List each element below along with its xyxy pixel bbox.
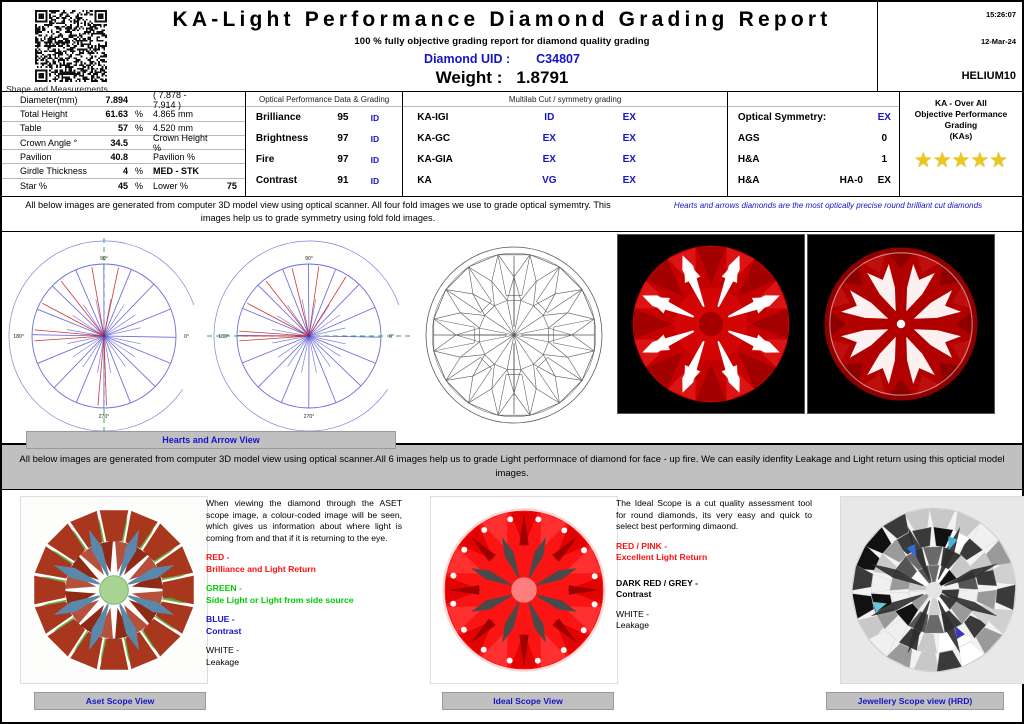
table-row: AGS 0	[728, 128, 899, 149]
measure-label: Table	[8, 123, 96, 133]
lab-cut-grade: EX	[509, 133, 589, 144]
fold-diagram-2-svg: 90°180°0°270°	[207, 232, 412, 437]
measure-value: 57	[96, 123, 128, 133]
hearts-arrows-note: Hearts and arrows diamonds are the most …	[634, 197, 1022, 231]
table-row: KA-GC EX EX	[403, 128, 727, 149]
ideal-scope-image-cell	[412, 490, 612, 714]
optical-performance-table: Optical Performance Data & Grading Brill…	[246, 92, 403, 196]
table-row: Total Height 61.63 % 4.865 mm	[2, 107, 245, 121]
measure-label: Girdle Thickness	[8, 166, 96, 176]
arrows-view	[617, 234, 805, 414]
aset-legend-key-white: WHITE -	[206, 645, 239, 655]
symmetry-mid: HA-0	[833, 175, 870, 186]
measure-unit: %	[128, 166, 147, 176]
svg-text:270°: 270°	[304, 414, 315, 420]
table-row: KA VG EX	[403, 170, 727, 191]
optical-performance-header: Optical Performance Data & Grading	[246, 92, 402, 107]
metric-grade: ID	[358, 134, 392, 144]
svg-text:0°: 0°	[389, 334, 394, 340]
table-row: Brightness 97 ID	[246, 128, 402, 149]
aset-scope-image-cell	[2, 490, 202, 714]
page-title: KA-Light Performance Diamond Grading Rep…	[132, 8, 872, 32]
weight-value: 1.8791	[516, 68, 568, 87]
overall-title-line2: Objective Performance Grading	[900, 109, 1022, 131]
star-icon: ★	[989, 150, 1008, 171]
page-subtitle: 100 % fully objective grading report for…	[132, 36, 872, 47]
measure-label: Pavilion	[8, 152, 96, 162]
scope-images-row: When viewing the diamond through the ASE…	[2, 490, 1022, 714]
lab-sym-grade: EX	[589, 154, 669, 165]
metric-score: 97	[328, 154, 358, 165]
metric-score: 97	[328, 133, 358, 144]
star-icon: ★	[970, 150, 989, 171]
measure-unit: %	[128, 123, 147, 133]
ideal-legend-desc-darkred: Contrast	[616, 589, 651, 599]
measure-extra: 4.865 mm	[147, 109, 209, 119]
table-row: H&A HA-0 EX	[728, 170, 899, 191]
measure-unit: %	[128, 181, 147, 191]
report-header: Shape and Measurements KA-Light Performa…	[2, 2, 1022, 92]
metric-name: Fire	[256, 154, 328, 165]
table-row: Fire 97 ID	[246, 149, 402, 170]
overall-grading-panel: KA - Over All Objective Performance Grad…	[900, 92, 1022, 196]
svg-text:90°: 90°	[100, 256, 108, 262]
aset-legend-desc-white: Leakage	[206, 657, 239, 667]
ideal-paragraph: The Ideal Scope is a cut quality assessm…	[616, 498, 812, 533]
ideal-legend-key-darkred: DARK RED / GREY -	[616, 578, 698, 588]
multilab-table: Multilab Cut / symmetry grading KA-IGI I…	[403, 92, 728, 196]
scope-images-note: All below images are generated from comp…	[2, 444, 1022, 490]
lab-cut-grade: ID	[509, 112, 589, 123]
report-time: 15:26:07	[876, 10, 1016, 19]
weight-row: Weight :1.8791	[132, 68, 872, 88]
lab-name: KA	[417, 175, 509, 186]
symmetry-value: 0	[870, 133, 899, 144]
aset-legend-desc-blue: Contrast	[206, 626, 241, 636]
metric-name: Contrast	[256, 175, 328, 186]
fold-diagram-1-svg: 90°180°0°270°	[2, 232, 207, 437]
symmetry-value: EX	[870, 112, 899, 123]
aset-legend-desc-red: Brilliance and Light Return	[206, 564, 316, 574]
table-row: Optical Symmetry: EX	[728, 107, 899, 128]
fold-diagram-1: 90°180°0°270°	[2, 232, 207, 437]
qr-code-svg	[30, 10, 112, 82]
fold-images-note-band: All below images are generated from comp…	[2, 197, 1022, 232]
symmetry-header-spacer	[728, 92, 899, 107]
hearts-view	[807, 234, 995, 414]
measurements-table: Diameter(mm) 7.894 ( 7.878 - 7.914 ) Tot…	[2, 92, 246, 196]
metric-name: Brightness	[256, 133, 328, 144]
data-tables-row: Diameter(mm) 7.894 ( 7.878 - 7.914 ) Tot…	[2, 92, 1022, 197]
jewellery-scope-caption: Jewellery Scope view (HRD)	[826, 692, 1004, 710]
symmetry-label: Optical Symmetry:	[738, 112, 833, 123]
table-row: Contrast 91 ID	[246, 170, 402, 191]
measure-extra: MED - STK	[153, 166, 199, 176]
measure-value: 45	[96, 181, 128, 191]
metric-score: 95	[328, 112, 358, 123]
symmetry-label: H&A	[738, 175, 833, 186]
measure-value: 7.894	[96, 95, 128, 105]
measure-extra: ( 7.878 - 7.914 )	[147, 90, 209, 110]
measure-label: Total Height	[8, 109, 96, 119]
symmetry-label: AGS	[738, 133, 833, 144]
aset-legend-key-red: RED -	[206, 552, 229, 562]
measure-extra2: 75	[209, 181, 245, 191]
ideal-legend-desc-white: Leakage	[616, 620, 649, 630]
measure-value: 61.63	[96, 109, 128, 119]
overall-title-line3: (KAs)	[900, 131, 1022, 142]
lab-sym-grade: EX	[589, 112, 669, 123]
table-row: Brilliance 95 ID	[246, 107, 402, 128]
ideal-scope-image	[430, 496, 618, 684]
facet-wireframe-svg	[412, 232, 617, 437]
diamond-uid-value: C34807	[536, 52, 580, 66]
fold-images-note: All below images are generated from comp…	[2, 197, 634, 231]
metric-name: Brilliance	[256, 112, 328, 123]
facet-wireframe-diagram	[412, 232, 617, 437]
table-row: KA-GIA EX EX	[403, 149, 727, 170]
star-icon: ★	[933, 150, 952, 171]
measure-label: Diameter(mm)	[8, 95, 96, 105]
lab-name: KA-GIA	[417, 154, 509, 165]
hearts-arrows-caption: Hearts and Arrow View	[26, 431, 396, 449]
fold-diagram-2: 90°180°0°270°	[207, 232, 412, 437]
table-row: Girdle Thickness 4 % MED - STK	[2, 164, 245, 178]
metric-score: 91	[328, 175, 358, 186]
lab-cut-grade: EX	[509, 154, 589, 165]
table-row: Pavilion 40.8 Pavilion %	[2, 150, 245, 164]
overall-title-line1: KA - Over All	[900, 98, 1022, 109]
metric-grade: ID	[358, 113, 392, 123]
arrows-view-cell	[617, 234, 807, 419]
measure-value: 34.5	[96, 138, 128, 148]
table-row: KA-IGI ID EX	[403, 107, 727, 128]
symmetry-label: H&A	[738, 154, 833, 165]
measure-extra: Pavilion %	[147, 152, 209, 162]
multilab-header: Multilab Cut / symmetry grading	[403, 92, 727, 107]
ideal-scope-description: The Ideal Scope is a cut quality assessm…	[612, 490, 822, 714]
qr-code	[30, 10, 112, 82]
aset-legend-key-green: GREEN -	[206, 583, 242, 593]
symmetry-value: EX	[870, 175, 899, 186]
lab-sym-grade: EX	[589, 133, 669, 144]
svg-text:90°: 90°	[305, 256, 313, 262]
measure-extra: Crown Height %	[147, 133, 209, 153]
measure-extra: Lower %	[147, 181, 209, 191]
symmetry-table: Optical Symmetry: EX AGS 0 H&A 1 H&A HA-…	[728, 92, 900, 196]
aset-scope-caption: Aset Scope View	[34, 692, 206, 710]
brand-label: HELIUM10	[876, 70, 1016, 82]
table-row: H&A 1	[728, 149, 899, 170]
diamond-uid-row: Diamond UID :C34807	[132, 52, 872, 66]
aset-legend-key-blue: BLUE -	[206, 614, 235, 624]
table-row: Crown Angle ° 34.5 Crown Height %	[2, 136, 245, 150]
diamond-uid-label: Diamond UID :	[424, 52, 510, 66]
metric-grade: ID	[358, 155, 392, 165]
lab-sym-grade: EX	[589, 175, 669, 186]
lab-name: KA-IGI	[417, 112, 509, 123]
hearts-view-cell	[807, 234, 997, 419]
table-row: Diameter(mm) 7.894 ( 7.878 - 7.914 )	[2, 93, 245, 107]
aset-legend-desc-green: Side Light or Light from side source	[206, 595, 354, 605]
lab-name: KA-GC	[417, 133, 509, 144]
measure-label: Crown Angle °	[8, 138, 96, 148]
star-icon: ★	[914, 150, 933, 171]
report-date: 12-Mar-24	[876, 37, 1016, 46]
svg-text:180°: 180°	[218, 334, 229, 340]
aset-description: When viewing the diamond through the ASE…	[202, 490, 412, 714]
svg-text:0°: 0°	[184, 334, 189, 340]
svg-text:180°: 180°	[13, 334, 24, 340]
title-block: KA-Light Performance Diamond Grading Rep…	[132, 8, 872, 88]
ideal-legend-key-redpink: RED / PINK -	[616, 541, 667, 551]
svg-text:270°: 270°	[99, 414, 110, 420]
aset-paragraph: When viewing the diamond through the ASE…	[206, 498, 402, 544]
measure-value: 40.8	[96, 152, 128, 162]
jewellery-scope-image	[840, 496, 1024, 684]
star-icon: ★	[952, 150, 971, 171]
jewellery-scope-image-cell	[822, 490, 1022, 714]
lab-cut-grade: VG	[509, 175, 589, 186]
weight-label: Weight :	[436, 68, 503, 87]
measure-unit: %	[128, 109, 147, 119]
measure-label: Star %	[8, 181, 96, 191]
metric-grade: ID	[358, 176, 392, 186]
table-row: Star % 45 % Lower % 75	[2, 179, 245, 193]
ideal-legend-desc-redpink: Excellent Light Return	[616, 552, 707, 562]
grading-report-page: Shape and Measurements KA-Light Performa…	[0, 0, 1024, 724]
ideal-legend-key-white: WHITE -	[616, 609, 649, 619]
ideal-scope-caption: Ideal Scope View	[442, 692, 614, 710]
fold-images-row: 90°180°0°270° 90°180°0°270° Hearts	[2, 232, 1022, 444]
header-meta: 15:26:07 12-Mar-24 HELIUM10	[876, 10, 1016, 82]
overall-grading-title: KA - Over All Objective Performance Grad…	[900, 92, 1022, 142]
symmetry-value: 1	[870, 154, 899, 165]
star-rating: ★★★★★	[900, 142, 1022, 171]
aset-scope-image	[20, 496, 208, 684]
measure-value: 4	[96, 166, 128, 176]
